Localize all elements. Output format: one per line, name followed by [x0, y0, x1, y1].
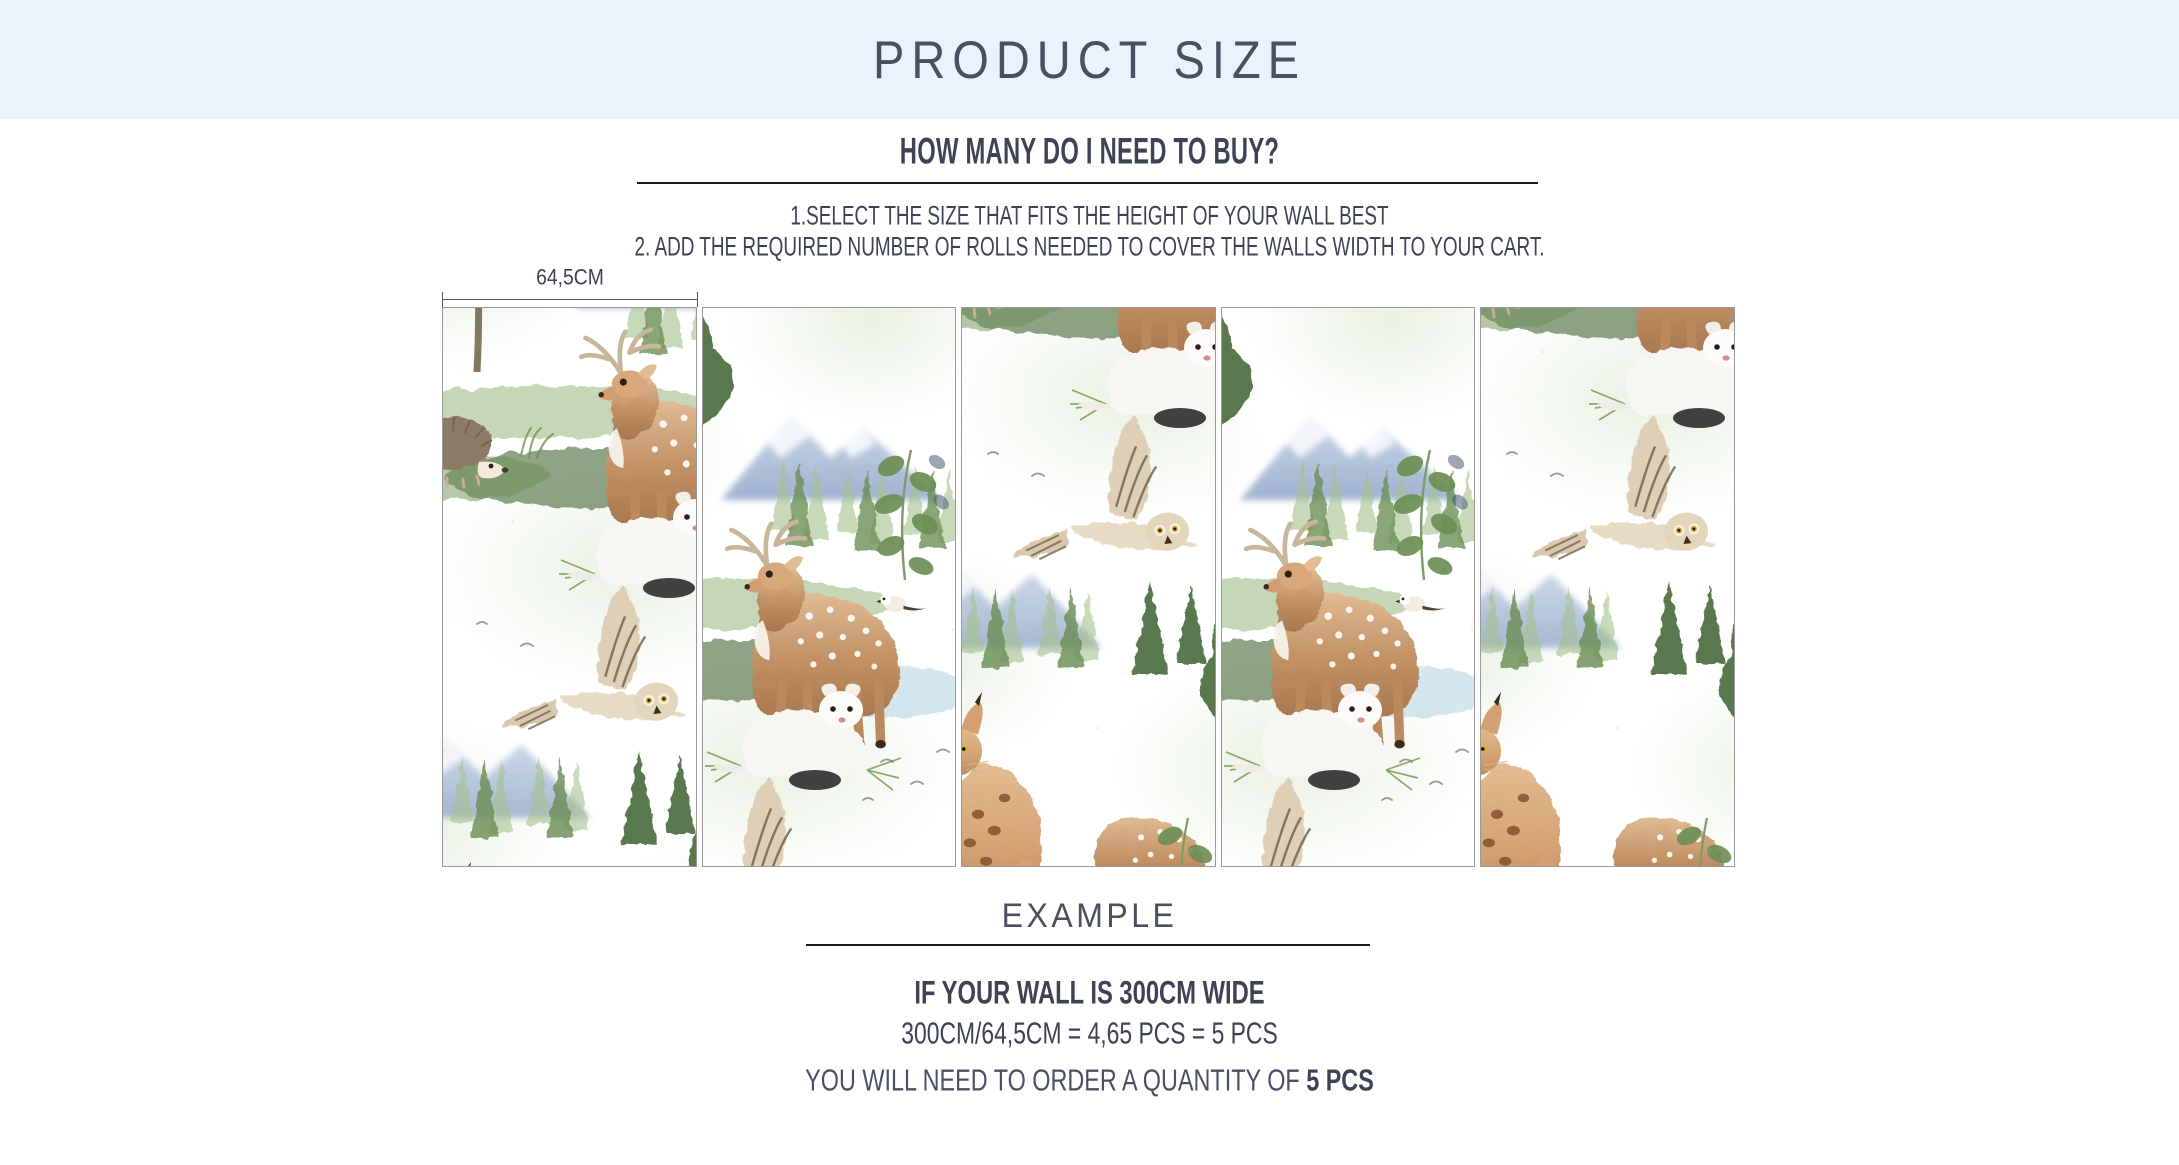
- measurement-bar: [442, 299, 698, 300]
- wallpaper-panel: [961, 307, 1216, 867]
- width-measurement: 64,5CM: [442, 266, 698, 306]
- wallpaper-pattern-artwork: [1480, 307, 1735, 398]
- wallpaper-pattern-artwork: [961, 307, 1216, 398]
- instruction-line-2: 2. ADD THE REQUIRED NUMBER OF ROLLS NEED…: [153, 228, 2027, 266]
- example-wall-width: IF YOUR WALL IS 300CM WIDE: [131, 975, 2049, 1012]
- wallpaper-panel: [1221, 307, 1476, 867]
- measurement-label: 64,5CM: [452, 265, 688, 290]
- wallpaper-panel: [702, 307, 957, 867]
- example-heading: EXAMPLE: [0, 896, 2179, 936]
- example-conclusion: YOU WILL NEED TO ORDER A QUANTITY OF 5 P…: [109, 1063, 2070, 1099]
- example-divider: [806, 944, 1370, 946]
- wallpaper-panel: [442, 307, 697, 867]
- wallpaper-panel: [1480, 307, 1735, 867]
- wallpaper-panel-strip: [442, 307, 1735, 867]
- page-title: PRODUCT SIZE: [873, 29, 1306, 91]
- heading-divider: [637, 182, 1538, 184]
- measurement-cap-left-icon: [442, 292, 443, 307]
- instructions-block: 1.SELECT THE SIZE THAT FITS THE HEIGHT O…: [0, 200, 2179, 262]
- page-header-band: PRODUCT SIZE: [0, 0, 2179, 119]
- wallpaper-pattern-artwork: [702, 307, 957, 760]
- wallpaper-pattern-artwork: [1221, 307, 1476, 760]
- measurement-cap-right-icon: [697, 292, 698, 307]
- example-conclusion-prefix: YOU WILL NEED TO ORDER A QUANTITY OF: [805, 1063, 1306, 1098]
- how-many-heading: HOW MANY DO I NEED TO BUY?: [196, 131, 1983, 173]
- example-conclusion-quantity: 5 PCS: [1306, 1063, 1374, 1098]
- wallpaper-pattern-artwork: [442, 307, 697, 568]
- example-calculation: 300CM/64,5CM = 4,65 PCS = 5 PCS: [131, 1015, 2049, 1052]
